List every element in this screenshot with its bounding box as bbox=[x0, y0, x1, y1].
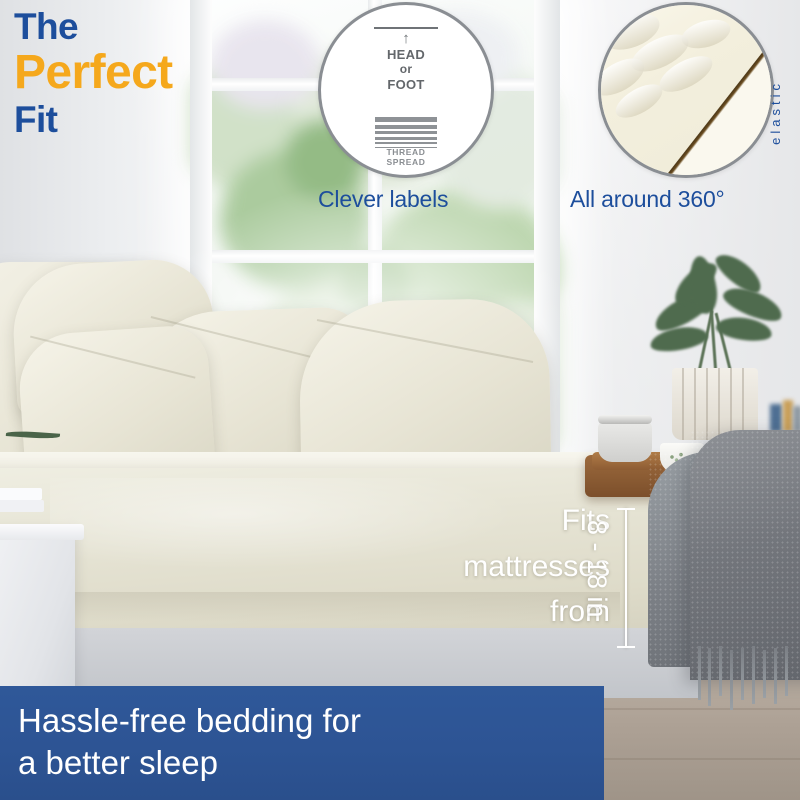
headline-line-3: Fit bbox=[14, 101, 173, 139]
book-stack-bottom bbox=[0, 500, 44, 512]
fits-line-1: Fits bbox=[330, 498, 610, 544]
label-foot-text: FOOT bbox=[321, 77, 491, 92]
caption-all-around-360: All around 360° bbox=[570, 186, 725, 213]
label-top-rule bbox=[374, 27, 438, 29]
bottom-banner: Hassle-free bedding for a better sleep bbox=[0, 686, 604, 800]
label-head-text: HEAD bbox=[321, 47, 491, 62]
vertical-elastic-text: elastic bbox=[768, 80, 783, 145]
fits-line-3: from bbox=[330, 589, 610, 635]
label-or-text: or bbox=[321, 62, 491, 76]
dimension-label: 8 - 18 in bbox=[581, 520, 612, 640]
banner-line-1: Hassle-free bedding for bbox=[18, 700, 361, 742]
fits-line-2: mattresses bbox=[330, 544, 610, 590]
teapot bbox=[598, 420, 652, 462]
callout-circle-all-around-360 bbox=[598, 2, 774, 178]
label-thread-word: THREAD bbox=[386, 147, 425, 157]
elastic-edge-seam bbox=[598, 23, 774, 178]
headline-line-2: Perfect bbox=[14, 49, 173, 98]
callout-circle-clever-labels: ↑ HEAD or FOOT THREAD SPREAD bbox=[318, 2, 494, 178]
label-thread-spread-text: THREAD SPREAD bbox=[321, 148, 491, 168]
nightstand bbox=[0, 530, 75, 700]
product-infographic: The Perfect Fit ↑ HEAD or FOOT THREAD SP… bbox=[0, 0, 800, 800]
headline-line-1: The bbox=[14, 8, 173, 46]
up-arrow-icon: ↑ bbox=[402, 31, 410, 46]
nightstand-top bbox=[0, 524, 84, 540]
banner-line-2: a better sleep bbox=[18, 742, 361, 784]
dimension-line bbox=[625, 508, 627, 648]
thread-spread-stripes-icon bbox=[375, 117, 437, 150]
label-spread-word: SPREAD bbox=[386, 157, 425, 167]
headline: The Perfect Fit bbox=[14, 8, 173, 138]
banner-text: Hassle-free bedding for a better sleep bbox=[18, 700, 361, 784]
fits-mattresses-text: Fits mattresses from bbox=[330, 498, 610, 635]
book-stack-top bbox=[0, 488, 42, 500]
dimension-cap-top bbox=[617, 508, 635, 510]
grey-knit-throw bbox=[690, 430, 800, 680]
dimension-cap-bottom bbox=[617, 646, 635, 648]
teapot-lid bbox=[598, 415, 652, 424]
caption-clever-labels: Clever labels bbox=[318, 186, 448, 213]
